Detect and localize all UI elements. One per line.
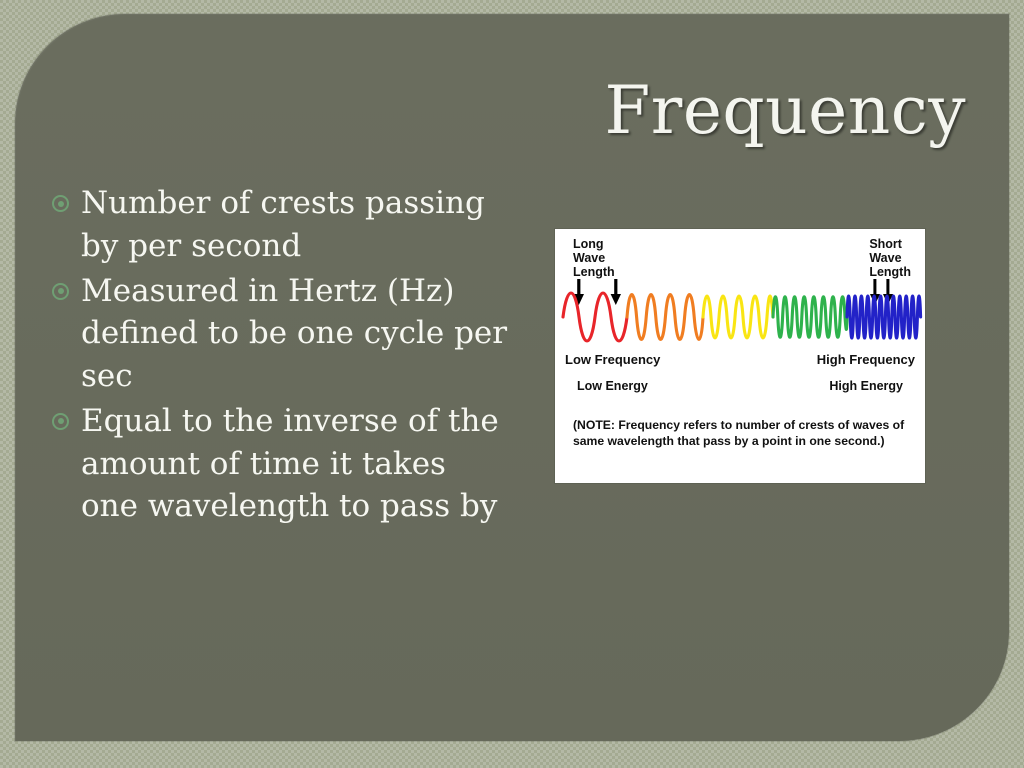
bullet-target-icon — [52, 283, 69, 300]
list-item-label: Number of crests passing by per second — [81, 182, 512, 268]
list-item-label: Equal to the inverse of the amount of ti… — [81, 400, 512, 528]
wave-segment-orange — [627, 295, 703, 340]
list-item: Equal to the inverse of the amount of ti… — [52, 400, 512, 528]
slide-canvas: Frequency Number of crests passing by pe… — [0, 0, 1024, 768]
bullet-target-icon — [52, 195, 69, 212]
list-item: Measured in Hertz (Hz) defined to be one… — [52, 270, 512, 398]
figure-note: (NOTE: Frequency refers to number of cre… — [573, 418, 917, 449]
high-energy-label: High Energy — [829, 379, 903, 393]
list-item-label: Measured in Hertz (Hz) defined to be one… — [81, 270, 512, 398]
wave-segment-green — [773, 297, 847, 338]
spectrum-wave-graphic — [555, 281, 925, 353]
wave-segment-blue — [847, 296, 921, 338]
wavelength-frequency-diagram: Long Wave Length Short Wave Length — [555, 229, 925, 483]
low-energy-label: Low Energy — [577, 379, 648, 393]
low-frequency-label: Low Frequency — [565, 353, 660, 368]
page-title: Frequency — [605, 78, 966, 144]
wave-segment-red — [563, 293, 627, 341]
short-wave-length-label: Short Wave Length — [869, 237, 911, 279]
bullet-target-icon — [52, 413, 69, 430]
high-frequency-label: High Frequency — [817, 353, 915, 368]
wave-segment-yellow — [703, 296, 773, 338]
long-wave-length-label: Long Wave Length — [573, 237, 615, 279]
bullet-list: Number of crests passing by per second M… — [52, 182, 512, 530]
list-item: Number of crests passing by per second — [52, 182, 512, 268]
